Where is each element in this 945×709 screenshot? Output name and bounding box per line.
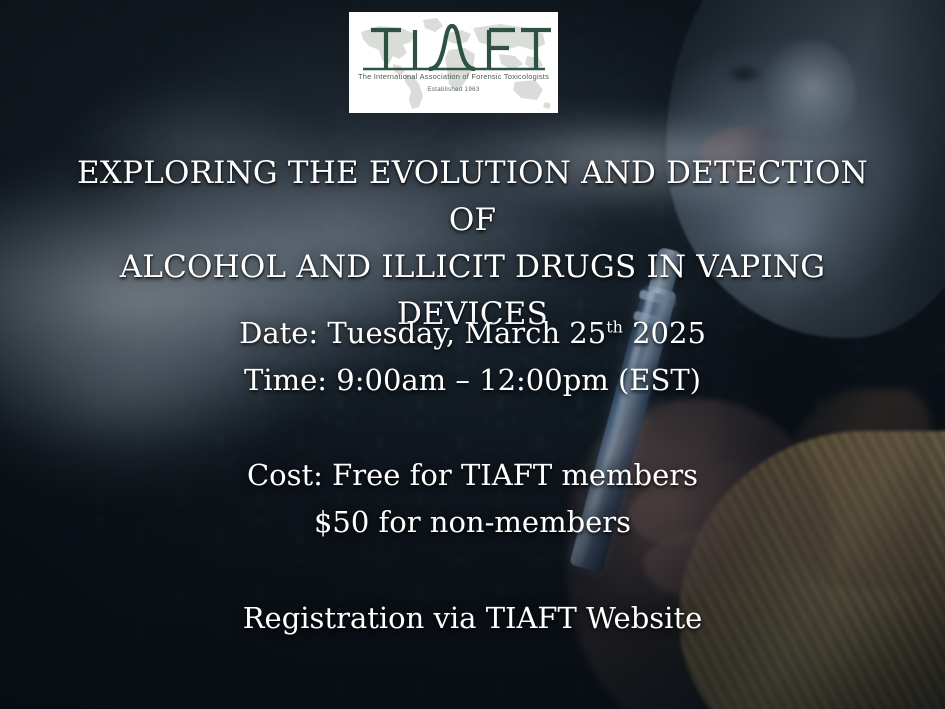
cost-members-line: Cost: Free for TIAFT members xyxy=(60,452,885,499)
poster-content: EXPLORING THE EVOLUTION AND DETECTION OF… xyxy=(0,0,945,709)
date-ordinal: th xyxy=(606,317,623,336)
date-year: 2025 xyxy=(623,316,706,350)
when-block: Date: Tuesday, March 25th 2025 Time: 9:0… xyxy=(60,310,885,404)
cost-block: Cost: Free for TIAFT members $50 for non… xyxy=(60,452,885,546)
registration-block: Registration via TIAFT Website xyxy=(60,595,885,642)
date-line: Date: Tuesday, March 25th 2025 xyxy=(60,310,885,357)
cost-non-members-line: $50 for non-members xyxy=(60,499,885,546)
webinar-flyer: The International Association of Forensi… xyxy=(0,0,945,709)
registration-line: Registration via TIAFT Website xyxy=(60,595,885,642)
date-text: Date: Tuesday, March 25 xyxy=(239,316,606,350)
time-line: Time: 9:00am – 12:00pm (EST) xyxy=(60,357,885,404)
